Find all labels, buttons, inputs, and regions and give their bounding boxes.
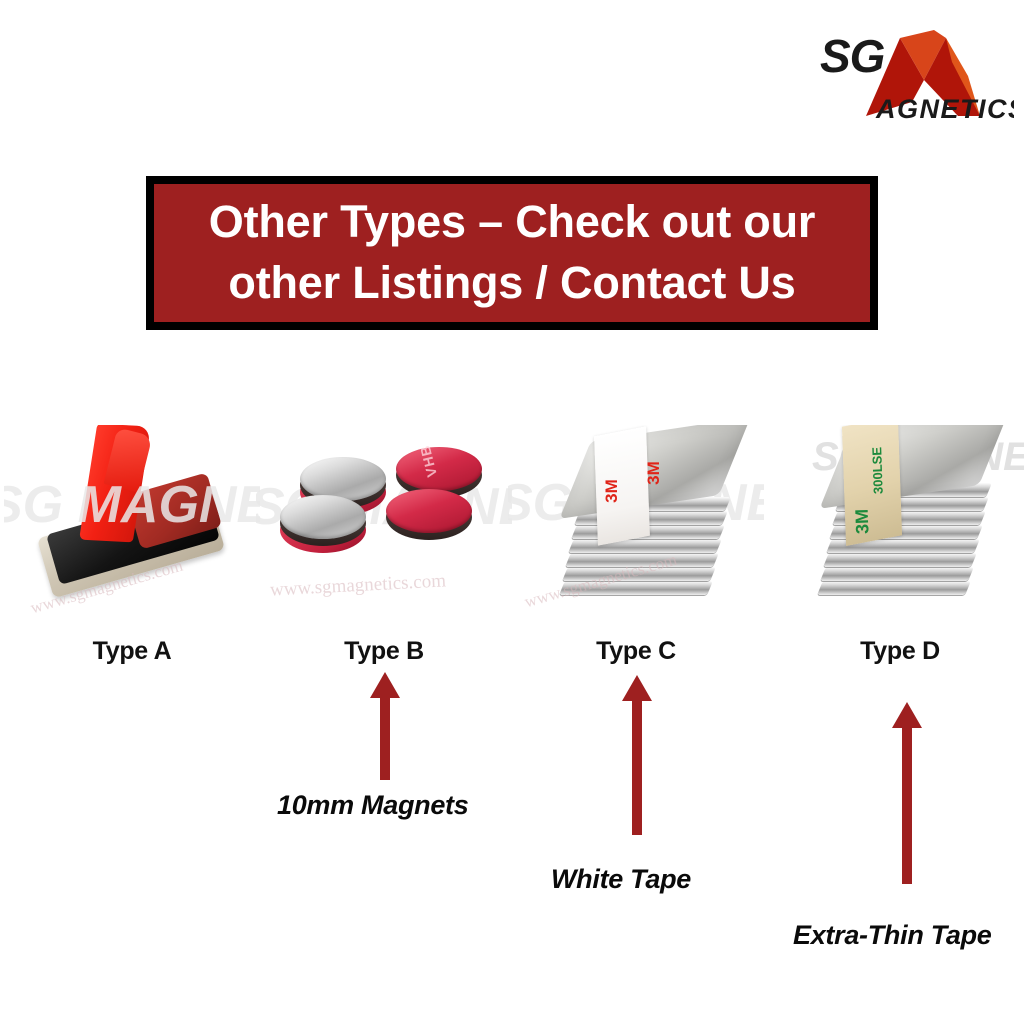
tape-brand-text-b: VHB <box>417 443 440 478</box>
product-type-d: SG MAGNETICS 3M 300LSE Type D <box>772 425 1024 675</box>
magnet-slab <box>559 581 713 595</box>
annotation-extra-thin-tape: Extra-Thin Tape <box>793 920 992 951</box>
title-banner: Other Types – Check out our other Listin… <box>146 176 878 330</box>
product-info-graphic: SG AGNETICS Other Types – Check out our … <box>0 0 1024 1024</box>
banner-text-block: Other Types – Check out our other Listin… <box>195 192 829 314</box>
product-type-a: 3M SG MAGNETICS www.sgmagnetics.com Type… <box>4 425 260 675</box>
annotation-white-tape: White Tape <box>551 864 691 895</box>
type-label-c: Type C <box>508 637 764 666</box>
disc-top-face <box>386 489 472 533</box>
product-photo-type-b: SG MAGNETICS VHB www.sgm <box>256 425 512 630</box>
annotation-10mm-magnets: 10mm Magnets <box>277 790 468 821</box>
arrow-to-type-d <box>890 702 924 884</box>
type-label-a: Type A <box>4 637 260 666</box>
disc-top-face <box>280 495 366 539</box>
magnet-slab <box>565 553 719 567</box>
product-photo-type-c: SG MAGNETICS 3M 3M www.sgmagnetics.com <box>508 425 764 630</box>
type-label-d: Type D <box>772 637 1024 666</box>
product-photo-type-d: SG MAGNETICS 3M 300LSE <box>772 425 1024 630</box>
arrow-to-type-c <box>620 675 654 835</box>
disc-top-face <box>300 457 386 501</box>
svg-text:AGNETICS: AGNETICS <box>875 94 1014 122</box>
magnet-slab <box>823 553 977 567</box>
product-type-b: SG MAGNETICS VHB www.sgm <box>256 425 512 675</box>
tape-brand-text-d: 3M <box>852 509 874 535</box>
product-photo-type-a: 3M SG MAGNETICS www.sgmagnetics.com <box>4 425 260 630</box>
product-type-c: SG MAGNETICS 3M 3M www.sgmagnetics.com T… <box>508 425 764 675</box>
magnet-slab <box>568 539 722 553</box>
watermark-url-b: www.sgmagnetics.com <box>270 570 447 601</box>
magnet-slab <box>562 567 716 581</box>
sg-magnetics-logo: SG AGNETICS <box>818 18 1014 122</box>
tape-code-text-d: 300LSE <box>869 447 886 494</box>
banner-line-2: other Listings / Contact Us <box>228 257 795 308</box>
tape-brand-text-c: 3M <box>602 479 622 503</box>
arrow-to-type-b <box>368 672 402 780</box>
magnet-slab <box>817 581 971 595</box>
disc-top-face: VHB <box>396 447 482 491</box>
magnet-slab <box>820 567 974 581</box>
svg-text:SG: SG <box>820 30 885 82</box>
type-label-b: Type B <box>256 637 512 666</box>
tape-brand-text-c-2: 3M <box>644 461 664 485</box>
banner-line-1: Other Types – Check out our <box>209 196 815 247</box>
